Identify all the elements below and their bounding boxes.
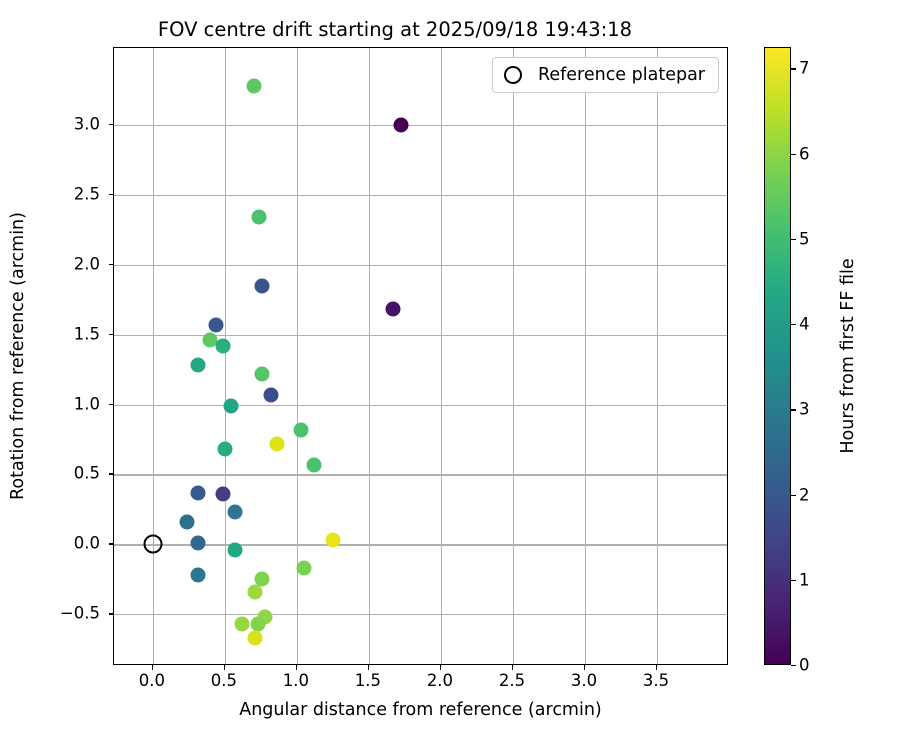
colorbar bbox=[764, 47, 791, 665]
y-tick-mark bbox=[109, 264, 114, 265]
colorbar-tick-mark bbox=[791, 580, 796, 581]
legend-reference-circle-icon bbox=[504, 66, 522, 84]
colorbar-tick-mark bbox=[791, 239, 796, 240]
x-tick-mark bbox=[440, 665, 441, 670]
x-tick-label: 0.5 bbox=[211, 671, 237, 690]
y-tick-label: 2.0 bbox=[74, 254, 100, 273]
colorbar-tick-mark bbox=[791, 68, 796, 69]
colorbar-tick-label: 3 bbox=[799, 400, 810, 419]
y-tick-label: 1.0 bbox=[74, 394, 100, 413]
x-tick-label: 1.0 bbox=[283, 671, 309, 690]
y-tick-label: −0.5 bbox=[60, 604, 100, 623]
x-tick-label: 2.5 bbox=[499, 671, 525, 690]
x-tick-mark bbox=[656, 665, 657, 670]
y-tick-mark bbox=[109, 473, 114, 474]
colorbar-tick-label: 6 bbox=[799, 144, 810, 163]
colorbar-tick-label: 5 bbox=[799, 229, 810, 248]
x-tick-label: 0.0 bbox=[139, 671, 165, 690]
x-tick-label: 1.5 bbox=[355, 671, 381, 690]
x-tick-label: 3.0 bbox=[571, 671, 597, 690]
y-tick-label: 1.5 bbox=[74, 324, 100, 343]
y-tick-mark bbox=[109, 404, 114, 405]
colorbar-tick-mark bbox=[791, 409, 796, 410]
colorbar-tick-mark bbox=[791, 665, 796, 666]
plot-area: Reference platepar bbox=[113, 47, 728, 665]
y-tick-label: 0.5 bbox=[74, 464, 100, 483]
y-tick-label: 2.5 bbox=[74, 184, 100, 203]
x-tick-label: 3.5 bbox=[643, 671, 669, 690]
y-axis-label: Rotation from reference (arcmin) bbox=[8, 47, 32, 665]
colorbar-tick-mark bbox=[791, 154, 796, 155]
x-tick-mark bbox=[584, 665, 585, 670]
reference-platepar-marker bbox=[143, 535, 162, 554]
y-tick-mark bbox=[109, 334, 114, 335]
y-tick-mark bbox=[109, 124, 114, 125]
y-tick-mark bbox=[109, 194, 114, 195]
y-tick-mark bbox=[109, 543, 114, 544]
x-tick-mark bbox=[296, 665, 297, 670]
colorbar-gradient bbox=[765, 48, 790, 664]
x-tick-mark bbox=[368, 665, 369, 670]
x-tick-mark bbox=[224, 665, 225, 670]
page-title: FOV centre drift starting at 2025/09/18 … bbox=[0, 18, 790, 41]
x-tick-label: 2.0 bbox=[427, 671, 453, 690]
colorbar-tick-label: 0 bbox=[799, 656, 810, 675]
colorbar-tick-label: 7 bbox=[799, 59, 810, 78]
colorbar-tick-label: 2 bbox=[799, 485, 810, 504]
colorbar-tick-mark bbox=[791, 495, 796, 496]
chart-page: FOV centre drift starting at 2025/09/18 … bbox=[0, 0, 900, 750]
colorbar-tick-label: 4 bbox=[799, 315, 810, 334]
colorbar-label: Hours from first FF file bbox=[838, 47, 862, 665]
y-tick-mark bbox=[109, 613, 114, 614]
x-tick-mark bbox=[152, 665, 153, 670]
colorbar-tick-label: 1 bbox=[799, 570, 810, 589]
x-axis-label: Angular distance from reference (arcmin) bbox=[113, 700, 728, 720]
colorbar-tick-mark bbox=[791, 324, 796, 325]
reference-marker-layer bbox=[114, 48, 727, 664]
y-tick-label: 3.0 bbox=[74, 114, 100, 133]
x-tick-mark bbox=[512, 665, 513, 670]
legend-item-label: Reference platepar bbox=[538, 65, 705, 85]
legend: Reference platepar bbox=[492, 57, 719, 93]
y-tick-label: 0.0 bbox=[74, 534, 100, 553]
